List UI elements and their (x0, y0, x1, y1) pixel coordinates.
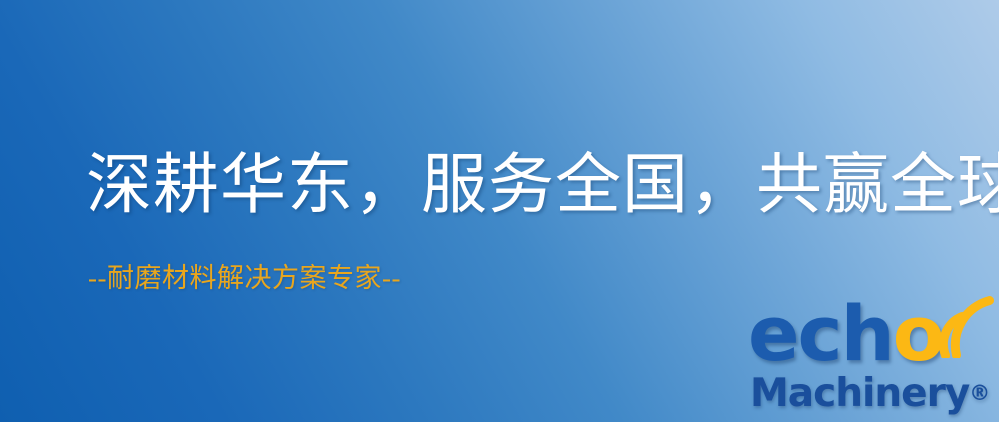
banner-subtitle: --耐磨材料解决方案专家-- (88, 264, 401, 294)
logo-subtext: Machinery® (750, 374, 990, 413)
company-logo[interactable]: echo Machinery® (744, 296, 999, 422)
logo-text-machinery: Machinery (750, 371, 969, 416)
hero-banner: 深耕华东，服务全国，共赢全球 --耐磨材料解决方案专家-- echo Machi… (0, 0, 999, 422)
logo-wordmark: echo (748, 296, 943, 372)
registered-trademark-icon: ® (969, 381, 990, 405)
logo-text-ech: ech (748, 289, 893, 378)
signal-waves-icon (926, 294, 998, 358)
banner-headline: 深耕华东，服务全国，共赢全球 (86, 151, 999, 220)
